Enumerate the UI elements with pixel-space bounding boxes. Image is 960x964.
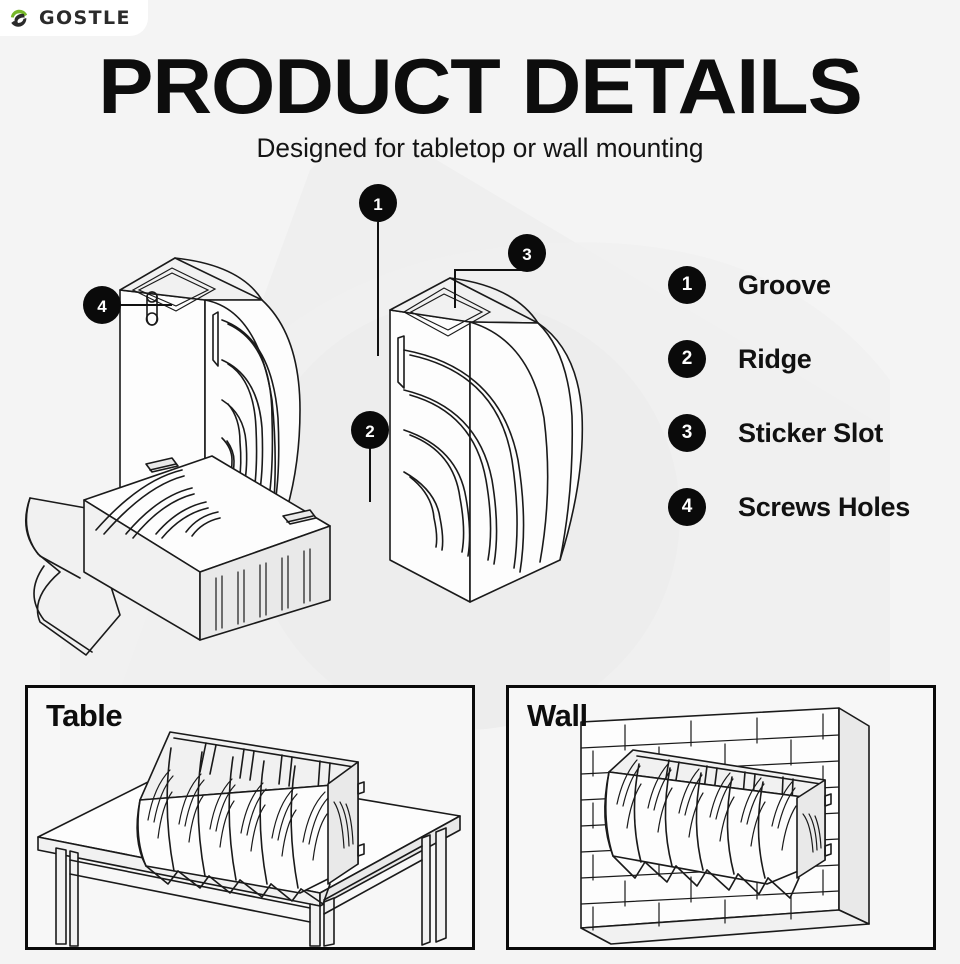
- page-title: PRODUCT DETAILS: [0, 46, 960, 126]
- gostle-swirl-icon: [6, 5, 32, 31]
- brand-name: GOSTLE: [39, 7, 131, 29]
- legend-label-2: Ridge: [738, 344, 812, 375]
- legend-badge-4: 4: [668, 488, 706, 526]
- legend-list: 1 Groove 2 Ridge 3 Sticker Slot 4 Screws…: [668, 248, 910, 544]
- header: PRODUCT DETAILS Designed for tabletop or…: [0, 46, 960, 164]
- legend-badge-1: 1: [668, 266, 706, 304]
- panel-title-table: Table: [46, 698, 122, 734]
- panel-wall: Wall: [506, 685, 936, 950]
- callout-marker-1[interactable]: 1: [359, 184, 397, 222]
- callout-marker-2-label: 2: [365, 422, 374, 441]
- page-subtitle: Designed for tabletop or wall mounting: [14, 132, 945, 164]
- callout-marker-2[interactable]: 2: [351, 411, 389, 449]
- panel-table: Table: [25, 685, 475, 950]
- infographic-canvas: GOSTLE PRODUCT DETAILS Designed for tabl…: [0, 0, 960, 964]
- callout-marker-3[interactable]: 3: [508, 234, 546, 272]
- product-exploded-illustration: 1 2 3 4: [0, 160, 680, 680]
- callout-marker-4[interactable]: 4: [83, 286, 121, 324]
- legend-badge-2: 2: [668, 340, 706, 378]
- brand-badge: GOSTLE: [0, 0, 148, 36]
- legend-label-1: Groove: [738, 270, 831, 301]
- product-unit-right: [390, 278, 582, 602]
- legend-label-3: Sticker Slot: [738, 418, 883, 449]
- legend-item-ridge: 2 Ridge: [668, 322, 910, 396]
- legend-label-4: Screws Holes: [738, 492, 910, 523]
- legend-item-sticker-slot: 3 Sticker Slot: [668, 396, 910, 470]
- callout-marker-1-label: 1: [373, 195, 382, 214]
- organizer-row-table: [137, 732, 364, 904]
- legend-item-groove: 1 Groove: [668, 248, 910, 322]
- legend-item-screws-holes: 4 Screws Holes: [668, 470, 910, 544]
- callout-marker-3-label: 3: [522, 245, 531, 264]
- callout-marker-4-label: 4: [97, 297, 107, 316]
- panel-title-wall: Wall: [527, 698, 588, 734]
- legend-badge-3: 3: [668, 414, 706, 452]
